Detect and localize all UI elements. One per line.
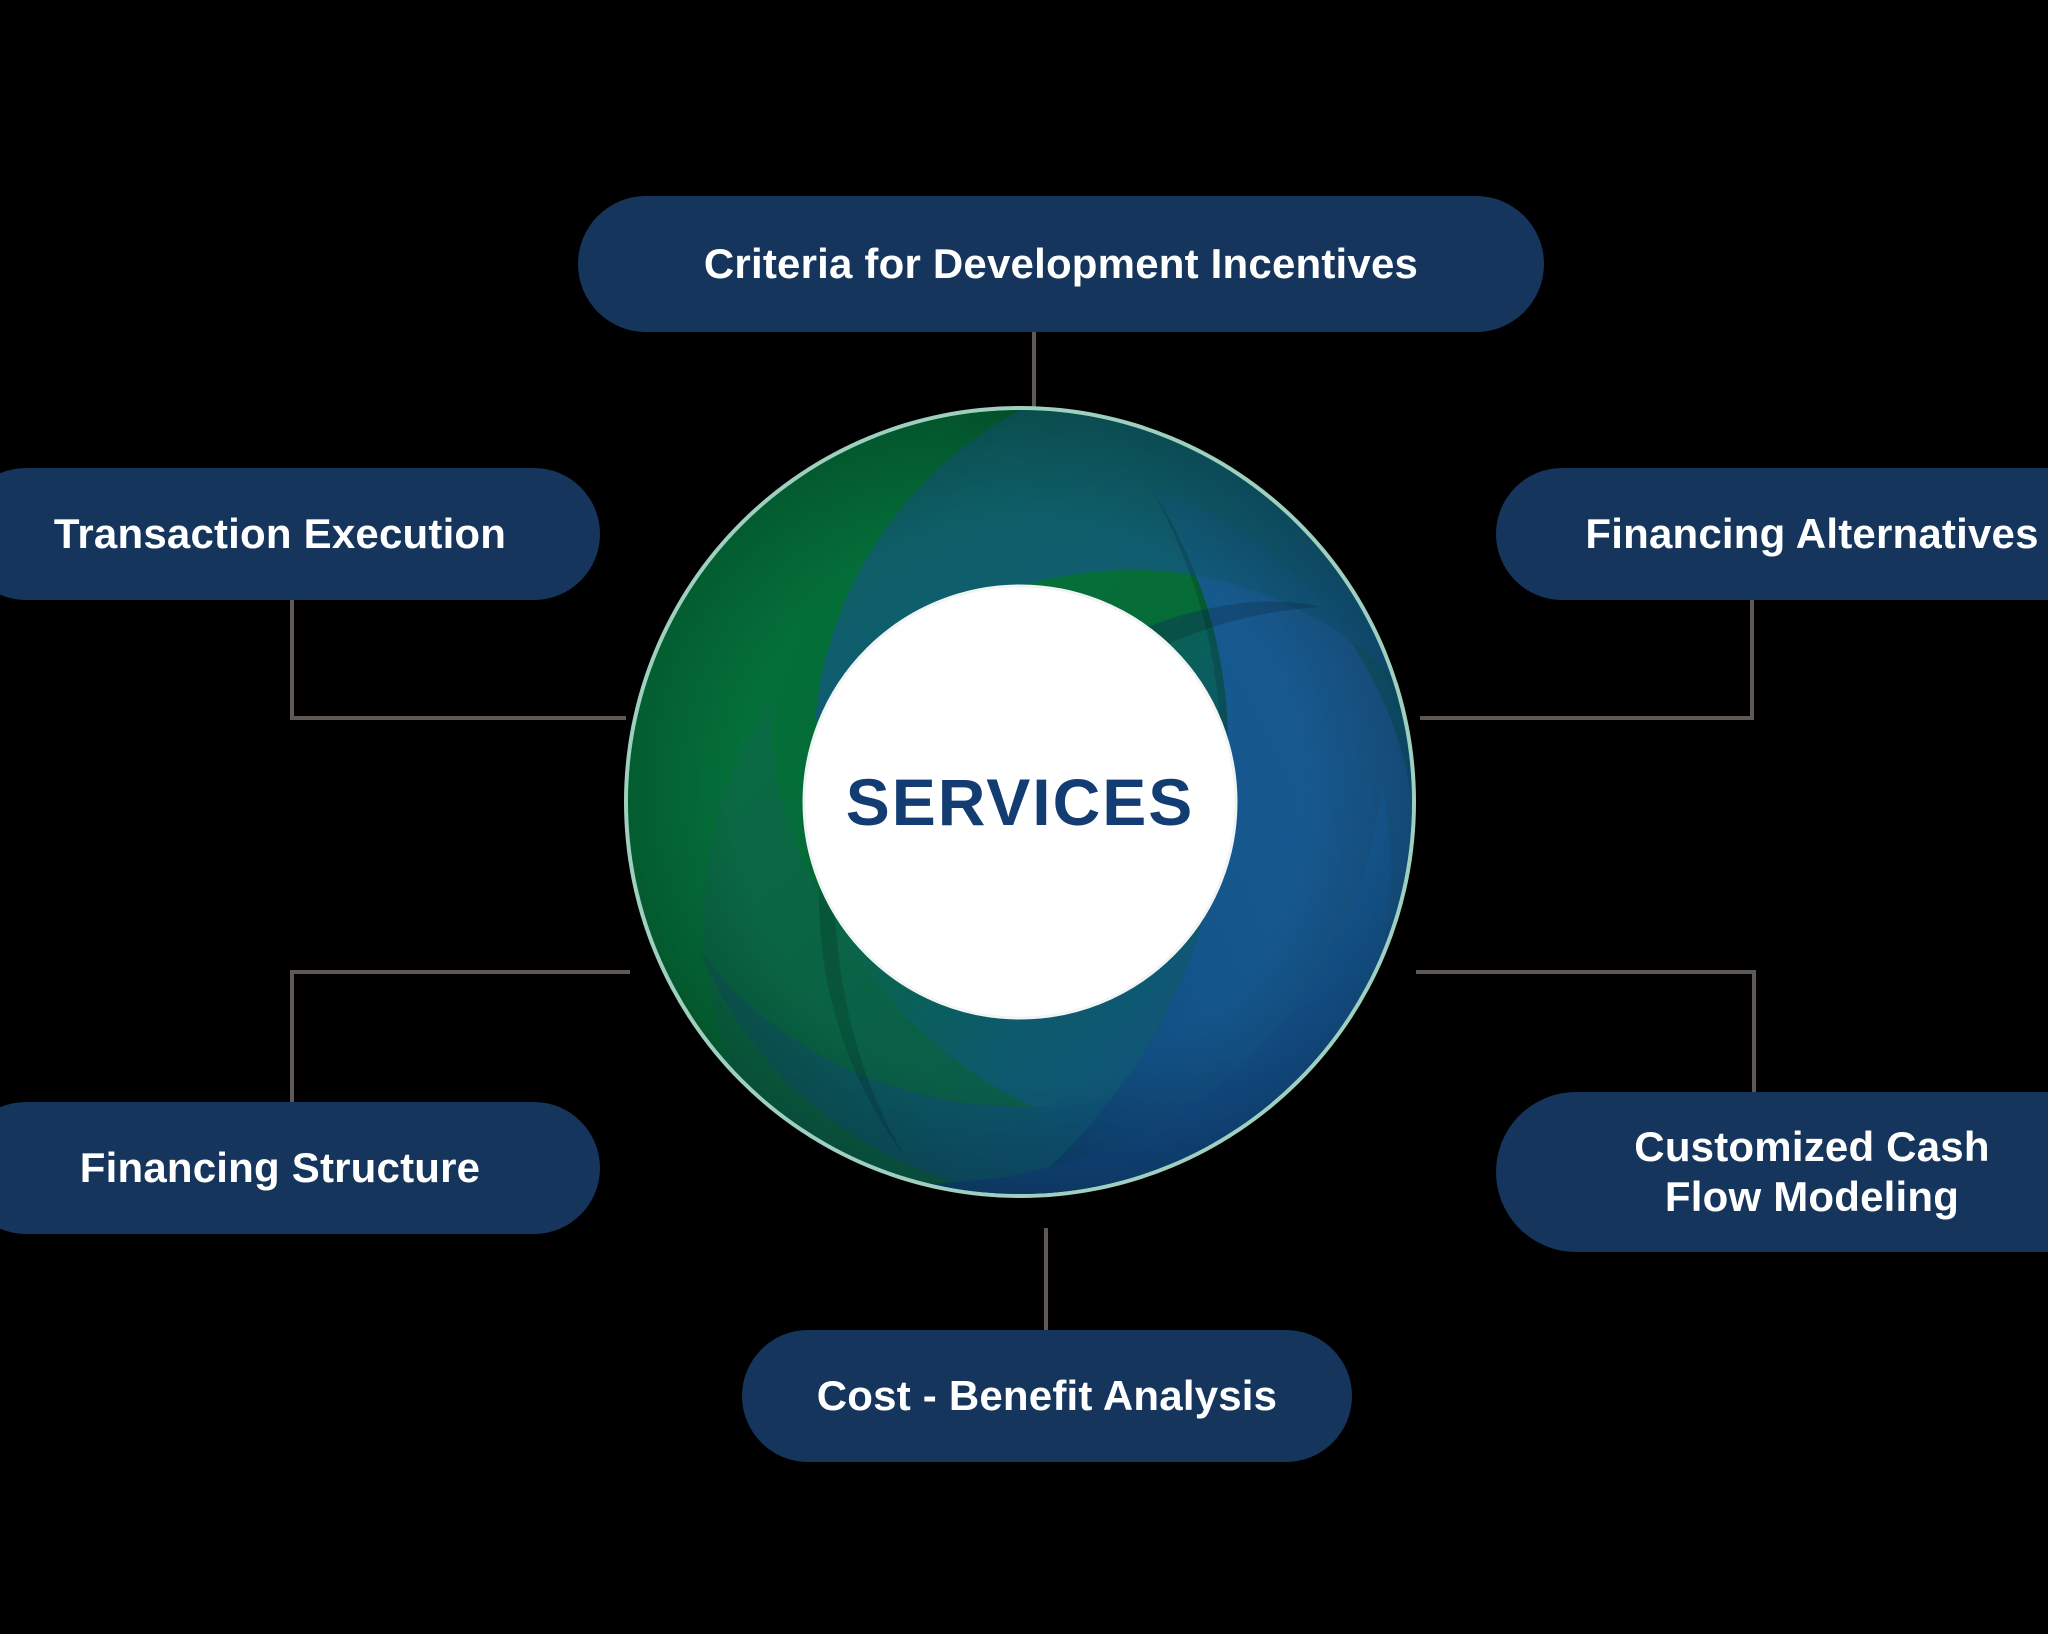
connector-left-upper-horizontal (290, 716, 626, 720)
node-label: Criteria for Development Incentives (704, 238, 1418, 289)
node-customized-cash-flow-modeling[interactable]: Customized Cash Flow Modeling (1496, 1092, 2048, 1252)
node-transaction-execution[interactable]: Transaction Execution (0, 468, 600, 600)
node-label: Cost - Benefit Analysis (817, 1370, 1277, 1421)
connector-left-lower-horizontal (290, 970, 630, 974)
node-cost-benefit-analysis[interactable]: Cost - Benefit Analysis (742, 1330, 1352, 1462)
connector-right-upper-vertical (1750, 600, 1754, 718)
node-label: Transaction Execution (54, 508, 506, 559)
node-label: Financing Alternatives (1585, 508, 2038, 559)
node-criteria-for-development-incentives[interactable]: Criteria for Development Incentives (578, 196, 1544, 332)
connector-right-upper-horizontal (1420, 716, 1754, 720)
services-pinwheel-emblem (620, 402, 1420, 1202)
node-label: Financing Structure (80, 1142, 481, 1193)
node-financing-alternatives[interactable]: Financing Alternatives (1496, 468, 2048, 600)
node-label: Customized Cash Flow Modeling (1634, 1122, 1989, 1221)
connector-left-upper-vertical (290, 600, 294, 718)
node-financing-structure[interactable]: Financing Structure (0, 1102, 600, 1234)
connector-right-lower-horizontal (1416, 970, 1756, 974)
connector-bottom-vertical (1044, 1228, 1048, 1334)
connector-right-lower-vertical (1752, 970, 1756, 1098)
diagram-canvas: SERVICES Criteria for Development Incent… (0, 0, 2048, 1634)
connector-left-lower-vertical (290, 970, 294, 1106)
